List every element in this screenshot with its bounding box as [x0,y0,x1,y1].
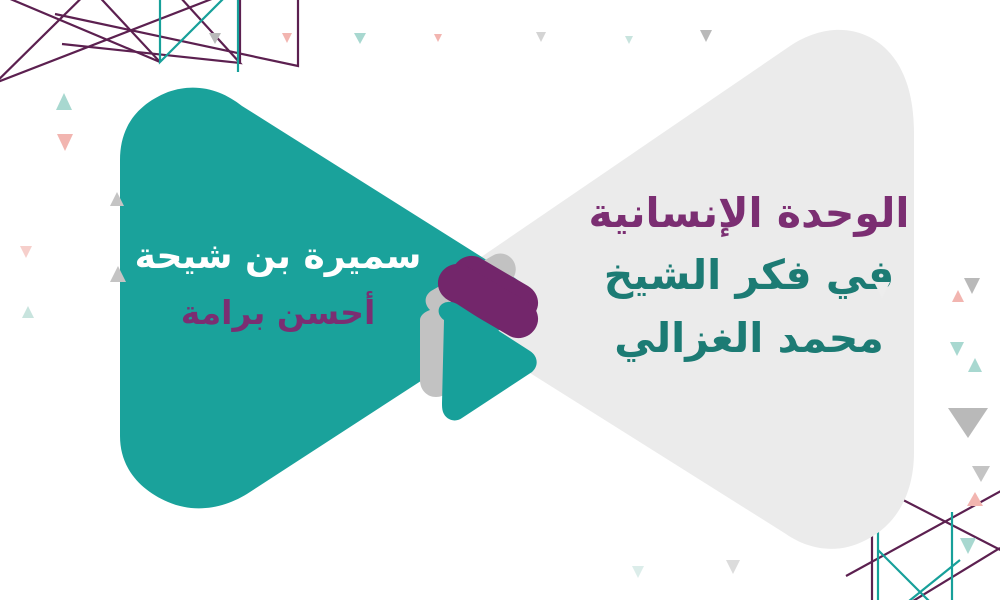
small-triangle-mint [632,566,644,578]
small-triangle-gray [726,560,740,574]
small-triangle-mint [968,358,982,372]
small-triangle-pink [282,33,292,43]
small-triangle-mint [22,306,34,318]
small-triangle-gray [948,408,988,438]
small-triangle-gray [874,282,890,298]
small-triangle-pink [952,290,964,302]
small-triangle-gray [700,30,712,42]
small-triangle-pink [57,134,73,151]
small-triangle-gray [972,466,990,482]
small-triangle-gray [110,192,124,206]
small-triangle-pink [434,34,442,42]
small-triangle-decor [0,0,1000,600]
small-triangle-mint [625,36,633,44]
small-triangle-mint [950,342,964,356]
small-triangle-gray [209,33,221,44]
small-triangle-mint [56,93,72,110]
small-triangle-pink [967,492,983,506]
small-triangle-pink [20,246,32,258]
title-slide: الوحدة الإنسانية في فكر الشيخ محمد الغزا… [0,0,1000,600]
small-triangle-mint [354,33,366,44]
small-triangle-gray [536,32,546,42]
small-triangle-gray [110,266,126,282]
small-triangle-gray [964,278,980,294]
small-triangle-mint [960,538,976,554]
